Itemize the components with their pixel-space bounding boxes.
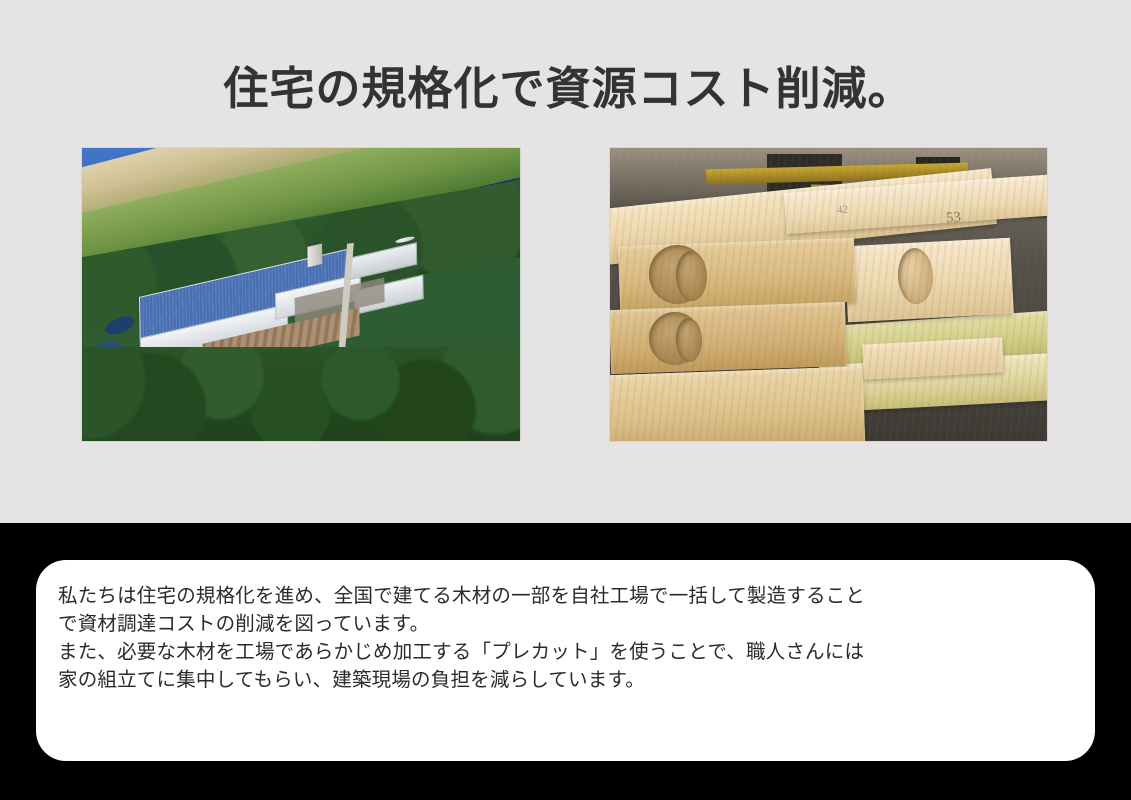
timber-beam-bottom <box>610 366 865 441</box>
description-text: 私たちは住宅の規格化を進め、全国で建てる木材の一部を自社工場で一括して製造するこ… <box>58 582 1069 694</box>
timber-marking-42: 42 <box>837 203 849 216</box>
precut-timber-photo: 53 42 <box>610 148 1047 441</box>
timber-marking-53: 53 <box>946 209 962 227</box>
forest-foreground <box>82 347 520 441</box>
aerial-factory-photo-content <box>82 148 520 441</box>
silo-icon <box>308 244 322 268</box>
slide-root: 住宅の規格化で資源コスト削減。 <box>0 0 1131 800</box>
description-card: 私たちは住宅の規格化を進め、全国で建てる木材の一部を自社工場で一括して製造するこ… <box>36 560 1095 761</box>
description-line-2: で資材調達コストの削減を図っています。 <box>58 610 1069 638</box>
page-title-wrap: 住宅の規格化で資源コスト削減。 <box>0 34 1131 144</box>
description-line-3: また、必要な木材を工場であらかじめ加工する「プレカット」を使うことで、職人さんに… <box>58 638 1069 666</box>
timber-beam-face-lower <box>610 302 847 375</box>
precut-timber-photo-content: 53 42 <box>610 148 1047 441</box>
photo-row: 53 42 <box>0 148 1131 442</box>
warehouse-roof-c <box>348 243 418 282</box>
description-line-4: 家の組立てに集中してもらい、建築現場の負担を減らしています。 <box>58 666 1069 694</box>
bottom-band: 私たちは住宅の規格化を進め、全国で建てる木材の一部を自社工場で一括して製造するこ… <box>0 523 1131 800</box>
description-line-1: 私たちは住宅の規格化を進め、全国で建てる木材の一部を自社工場で一括して製造するこ… <box>58 582 1069 610</box>
page-title: 住宅の規格化で資源コスト削減。 <box>223 64 913 114</box>
aerial-factory-photo <box>82 148 520 441</box>
